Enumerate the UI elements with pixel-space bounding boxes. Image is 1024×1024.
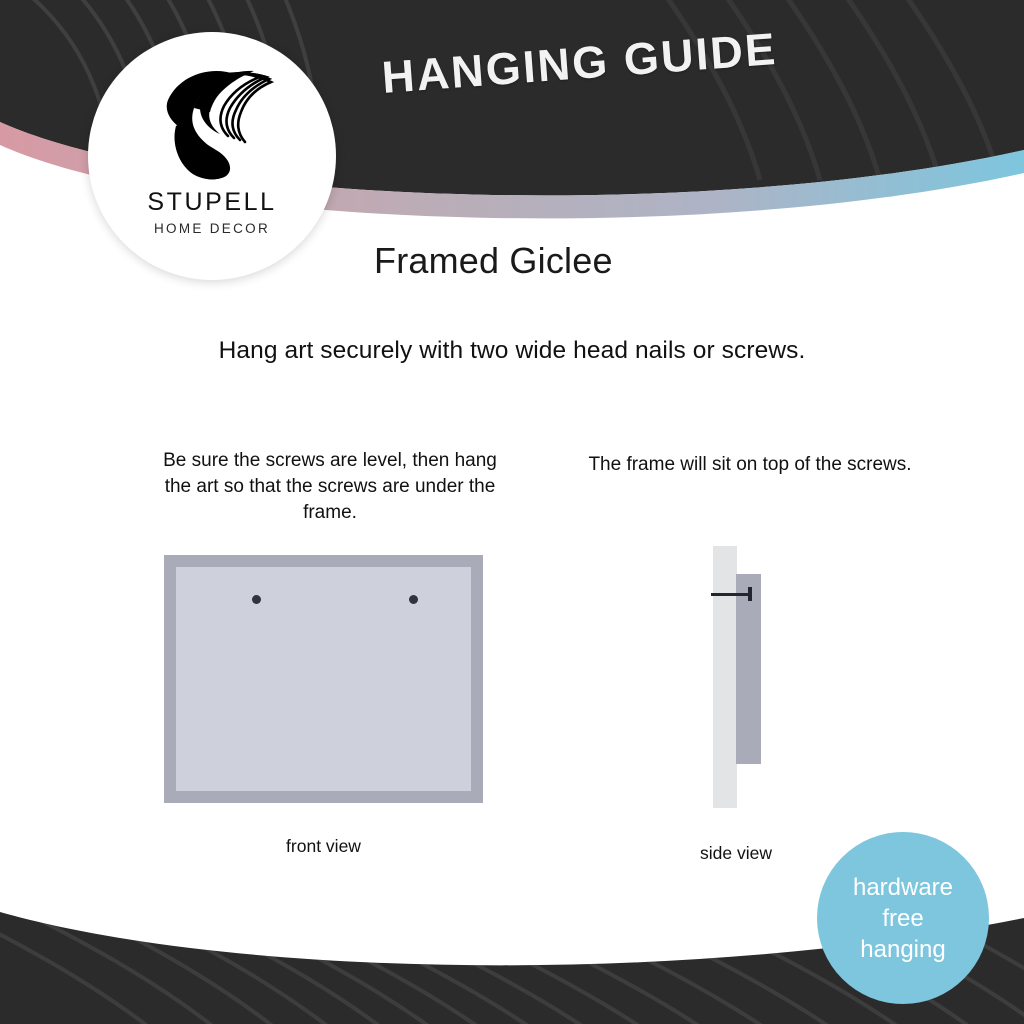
logo-wordmark: STUPELL xyxy=(147,188,276,217)
side-view-wall xyxy=(713,546,737,808)
side-view-frame xyxy=(736,574,761,764)
hardware-free-hanging-badge: hardware free hanging xyxy=(817,832,989,1004)
badge-line-1: hardware xyxy=(853,872,953,903)
screw-dot-right xyxy=(409,595,418,604)
front-view-diagram xyxy=(164,555,483,803)
side-view-caption: The frame will sit on top of the screws. xyxy=(578,452,922,478)
stupell-s-swoosh-icon xyxy=(150,64,274,184)
side-view-diagram xyxy=(705,546,767,808)
stupell-logo-badge: STUPELL HOME DECOR xyxy=(88,32,336,280)
front-view-label: front view xyxy=(164,836,483,857)
product-subtitle: Framed Giclee xyxy=(374,240,613,282)
badge-line-3: hanging xyxy=(860,934,945,965)
front-view-caption: Be sure the screws are level, then hang … xyxy=(150,448,510,526)
front-view-mat xyxy=(176,567,471,791)
side-view-label: side view xyxy=(654,843,818,864)
nail-shaft-icon xyxy=(711,593,751,596)
logo-tagline: HOME DECOR xyxy=(154,221,270,236)
nail-head-icon xyxy=(748,587,752,601)
screw-dot-left xyxy=(252,595,261,604)
badge-line-2: free xyxy=(882,903,923,934)
hanging-guide-page: HANGING GUIDE STUPELL HOME DECOR Framed … xyxy=(0,0,1024,1024)
lead-instruction: Hang art securely with two wide head nai… xyxy=(0,337,1024,365)
